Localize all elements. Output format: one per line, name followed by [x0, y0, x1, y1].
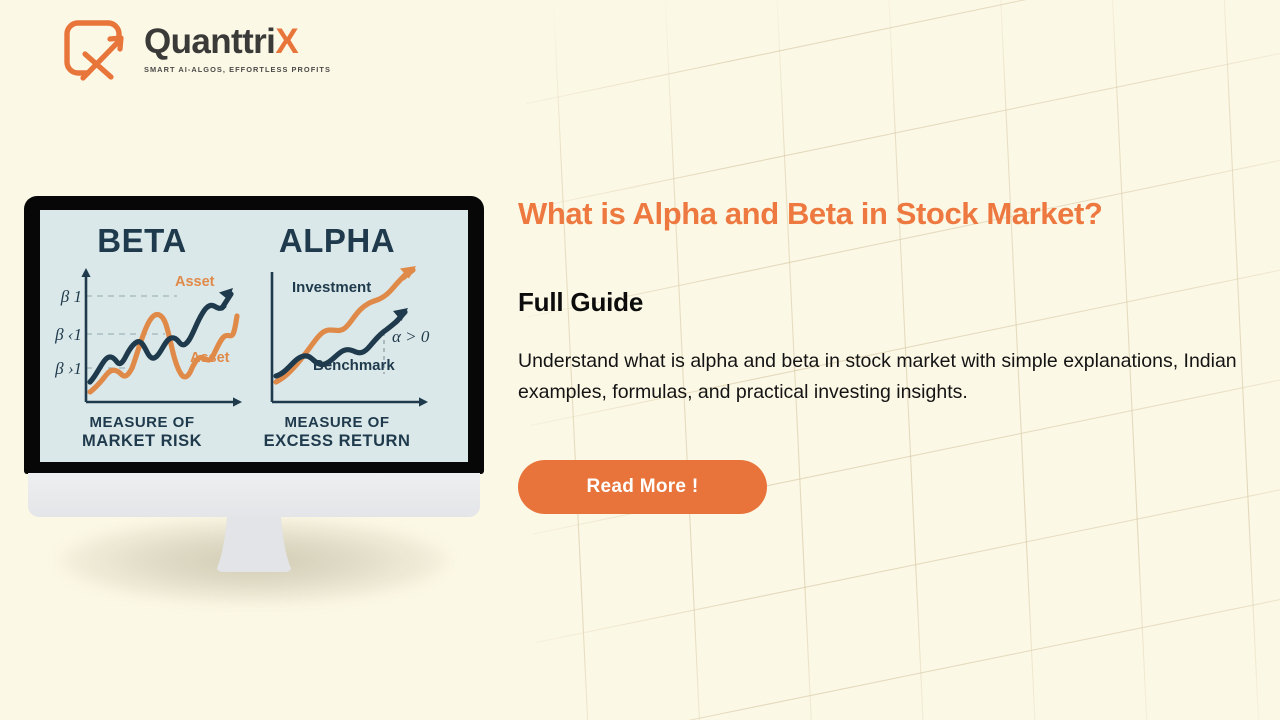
beta-tick-2: β ›1 — [54, 359, 82, 378]
beta-xlabel-line2: MARKET RISK — [82, 432, 202, 450]
alpha-label-alpha-positive: α > 0 — [392, 327, 430, 346]
page-title: What is Alpha and Beta in Stock Market? — [518, 196, 1258, 233]
brand-wordmark: QuanttriX SMART AI-ALGOS, EFFORTLESS PRO… — [144, 24, 331, 74]
brand-name: QuanttriX — [144, 24, 331, 59]
beta-label-asset-bottom: Asset — [190, 350, 230, 366]
beta-label-asset-top: Asset — [175, 274, 215, 290]
page-description: Understand what is alpha and beta in sto… — [518, 346, 1258, 410]
alpha-label-investment: Investment — [292, 279, 371, 296]
alpha-xlabel-line1: MEASURE OF — [284, 414, 389, 431]
read-more-button[interactable]: Read More ! — [518, 460, 767, 514]
alpha-title: ALPHA — [279, 222, 395, 259]
monitor-chin — [28, 473, 480, 517]
alpha-xlabel-line2: EXCESS RETURN — [264, 432, 411, 450]
page-subtitle: Full Guide — [518, 287, 1258, 318]
beta-title: BETA — [97, 222, 186, 259]
bracket-x-arrow-icon — [58, 14, 130, 84]
alpha-label-benchmark: Benchmark — [313, 357, 395, 374]
brand-tagline: SMART AI-ALGOS, EFFORTLESS PROFITS — [144, 65, 331, 74]
content-column: What is Alpha and Beta in Stock Market? … — [518, 196, 1258, 514]
monitor-bezel: BETA β 1 β ‹1 β ›1 — [24, 196, 484, 474]
brand-logo[interactable]: QuanttriX SMART AI-ALGOS, EFFORTLESS PRO… — [58, 14, 331, 84]
brand-name-accent: X — [275, 22, 298, 61]
monitor-stand — [217, 516, 291, 576]
alpha-beta-chart-figure: BETA β 1 β ‹1 β ›1 — [40, 210, 468, 462]
beta-xlabel-line1: MEASURE OF — [89, 414, 194, 431]
brand-name-main: Quanttri — [144, 22, 275, 61]
monitor-screen: BETA β 1 β ‹1 β ›1 — [40, 210, 468, 462]
beta-tick-1: β ‹1 — [54, 325, 82, 344]
beta-tick-0: β 1 — [60, 287, 82, 306]
